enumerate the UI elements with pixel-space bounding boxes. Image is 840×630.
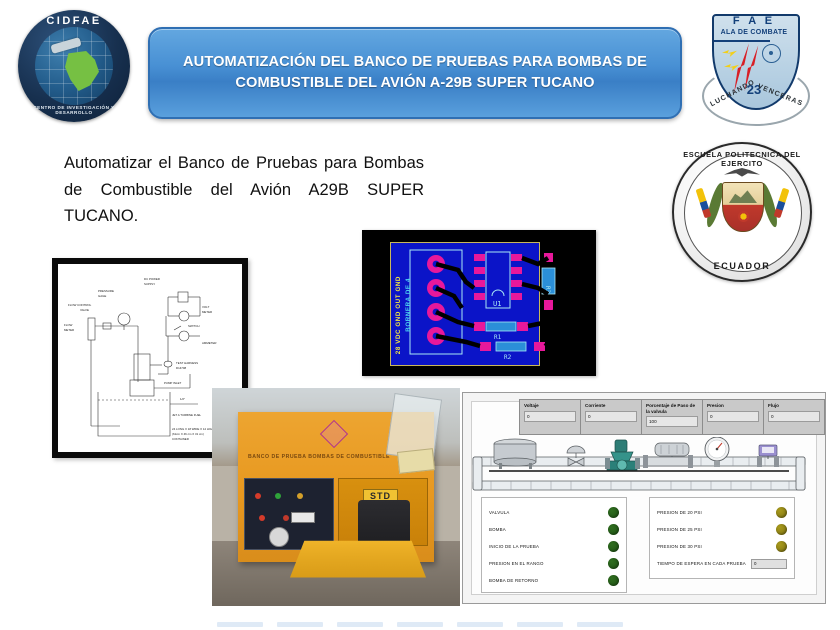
svg-text:U1: U1	[493, 300, 501, 308]
field-value[interactable]: 100	[646, 416, 698, 427]
svg-text:AMMETER: AMMETER	[202, 341, 216, 345]
svg-text:PUMP INLET: PUMP INLET	[164, 381, 182, 385]
espe-arc-bottom: ECUADOR	[672, 261, 812, 271]
hmi-field-voltaje[interactable]: Voltaje 0	[519, 399, 581, 435]
status-lamp-icon	[608, 507, 619, 518]
fae-title: F A E	[700, 15, 808, 27]
cidfae-globe-icon	[35, 27, 113, 105]
wait-time-row: TIEMPO DE ESPERA EN CADA PRUEBA 0	[657, 555, 787, 572]
presentation-slide: CIDFAE CENTRO DE INVESTIGACIÓN Y DESARRO…	[0, 0, 840, 630]
field-value[interactable]: 0	[707, 411, 759, 422]
field-value[interactable]: 0	[524, 411, 576, 422]
status-row: PRESION DE 30 PSI	[657, 538, 787, 555]
status-label: PRESION DE 20 PSI	[657, 510, 702, 515]
status-label: PRESION DE 30 PSI	[657, 544, 702, 549]
sun-icon	[738, 211, 749, 222]
wait-time-value[interactable]: 0	[751, 559, 787, 569]
status-row: INICIO DE LA PRUEBA	[489, 538, 619, 555]
status-lamp-icon	[608, 558, 619, 569]
svg-text:R1: R1	[494, 334, 502, 341]
status-row: PRESION DE 25 PSI	[657, 521, 787, 538]
status-label: BOMBA DE RETORNO	[489, 578, 538, 583]
fae-subtitle: ALA DE COMBATE	[700, 29, 808, 36]
paper-tag	[397, 448, 435, 474]
svg-text:TEST HARNESS: TEST HARNESS	[176, 361, 198, 365]
pump-icon	[605, 440, 640, 470]
actuated-valve-icon	[643, 443, 693, 468]
status-row: PRESION DE 20 PSI	[657, 504, 787, 521]
cidfae-logo: CIDFAE CENTRO DE INVESTIGACIÓN Y DESARRO…	[18, 10, 130, 122]
status-lamp-icon	[776, 507, 787, 518]
tank-icon	[494, 439, 536, 469]
espe-arc-top: ESCUELA POLITECNICA DEL EJERCITO	[672, 150, 812, 168]
slide-bottom-strip	[0, 622, 840, 630]
espe-seal: ESCUELA POLITECNICA DEL EJERCITO ECUADOR	[672, 142, 812, 282]
test-bench-photo: BANCO DE PRUEBA BOMBAS DE COMBUSTIBLE ST…	[212, 388, 460, 606]
mountain-icon	[729, 189, 757, 203]
status-row: PRESION EN EL RANGO	[489, 555, 619, 572]
status-lamp-icon	[776, 541, 787, 552]
svg-text:(61cm X 46 cm X 31 cm): (61cm X 46 cm X 31 cm)	[172, 432, 204, 436]
svg-text:FLOW: FLOW	[64, 323, 73, 327]
field-value[interactable]: 0	[585, 411, 637, 422]
hmi-scada-screen[interactable]: Voltaje 0 Corriente 0 Porcentaje de Paso…	[462, 392, 826, 604]
svg-text:METER: METER	[64, 328, 74, 332]
status-label: VALVULA	[489, 510, 510, 515]
status-label: INICIO DE LA PRUEBA	[489, 544, 539, 549]
status-row: BOMBA DE RETORNO	[489, 572, 619, 589]
svg-text:R2: R2	[504, 354, 512, 361]
pcb-layout: U1 R3 R1 R2	[362, 230, 596, 376]
svg-text:SWITCH: SWITCH	[188, 324, 199, 328]
svg-text:24 LONG X 18 WIDE X 12 HIGH: 24 LONG X 18 WIDE X 12 HIGH	[172, 427, 214, 431]
status-row: VALVULA	[489, 504, 619, 521]
status-label: BOMBA	[489, 527, 506, 532]
svg-text:FLOW CONTROL: FLOW CONTROL	[68, 303, 92, 307]
svg-text:CONTAINER: CONTAINER	[172, 437, 189, 441]
status-lamp-icon	[608, 575, 619, 586]
hmi-field-presion[interactable]: Presion 0	[702, 399, 764, 435]
objective-text: Automatizar el Banco de Pruebas para Bom…	[64, 150, 424, 230]
hmi-field-corriente[interactable]: Corriente 0	[580, 399, 642, 435]
svg-text:METER: METER	[202, 310, 212, 314]
fae-badge: F A E ALA DE COMBATE 23 LUCHANDO VENCERA…	[700, 8, 808, 128]
fae-divider	[714, 40, 770, 42]
field-label: Voltaje	[524, 403, 576, 409]
status-panel-left: VALVULA BOMBA INICIO DE LA PRUEBA PRESIO…	[481, 497, 627, 593]
field-label: Presion	[707, 403, 759, 409]
svg-text:VOLT: VOLT	[202, 305, 210, 309]
status-label: PRESION EN EL RANGO	[489, 561, 544, 566]
slide-title-banner: AUTOMATIZACIÓN DEL BANCO DE PRUEBAS PARA…	[148, 27, 682, 119]
cidfae-acronym: CIDFAE	[18, 15, 130, 27]
svg-text:VALVE: VALVE	[80, 308, 89, 312]
pcb-pin-labels: 28 VDC GND OUT GND	[395, 276, 402, 354]
bench-tray	[290, 541, 426, 578]
ecuador-map-icon	[65, 51, 99, 91]
svg-text:SUPPLY: SUPPLY	[144, 282, 155, 286]
status-lamp-icon	[608, 524, 619, 535]
svg-text:1/2": 1/2"	[180, 397, 185, 401]
page-title: AUTOMATIZACIÓN DEL BANCO DE PRUEBAS PARA…	[150, 52, 680, 93]
hmi-field-porcentaje-valvula[interactable]: Porcentaje de Paso de la valvula 100	[641, 399, 703, 435]
hazard-diamond-icon	[320, 420, 348, 448]
svg-text:JET A TURBINE FUEL: JET A TURBINE FUEL	[172, 413, 202, 417]
status-label: PRESION DE 25 PSI	[657, 527, 702, 532]
status-lamp-icon	[776, 524, 787, 535]
pcb-connector-label: BORNERA DE 4	[405, 278, 412, 332]
svg-text:DC POWER: DC POWER	[144, 277, 160, 281]
svg-text:D14708: D14708	[176, 366, 187, 370]
hmi-readout-row: Voltaje 0 Corriente 0 Porcentaje de Paso…	[519, 399, 824, 435]
wait-time-label: TIEMPO DE ESPERA EN CADA PRUEBA	[657, 561, 746, 566]
svg-text:PRESSURE: PRESSURE	[98, 289, 114, 293]
hmi-field-flujo[interactable]: Flujo 0	[763, 399, 825, 435]
svg-text:GAGE: GAGE	[98, 294, 106, 298]
status-row: BOMBA	[489, 521, 619, 538]
status-lamp-icon	[608, 541, 619, 552]
cidfae-subtitle: CENTRO DE INVESTIGACIÓN Y DESARROLLO	[18, 105, 130, 115]
field-label: Porcentaje de Paso de la valvula	[646, 403, 698, 414]
bench-control-panel	[244, 478, 334, 550]
field-label: Corriente	[585, 403, 637, 409]
target-icon	[762, 44, 781, 63]
process-diagram	[471, 437, 807, 495]
coat-of-arms-icon	[722, 182, 764, 232]
status-panel-right: PRESION DE 20 PSI PRESION DE 25 PSI PRES…	[649, 497, 795, 579]
field-label: Flujo	[768, 403, 820, 409]
field-value[interactable]: 0	[768, 411, 820, 422]
